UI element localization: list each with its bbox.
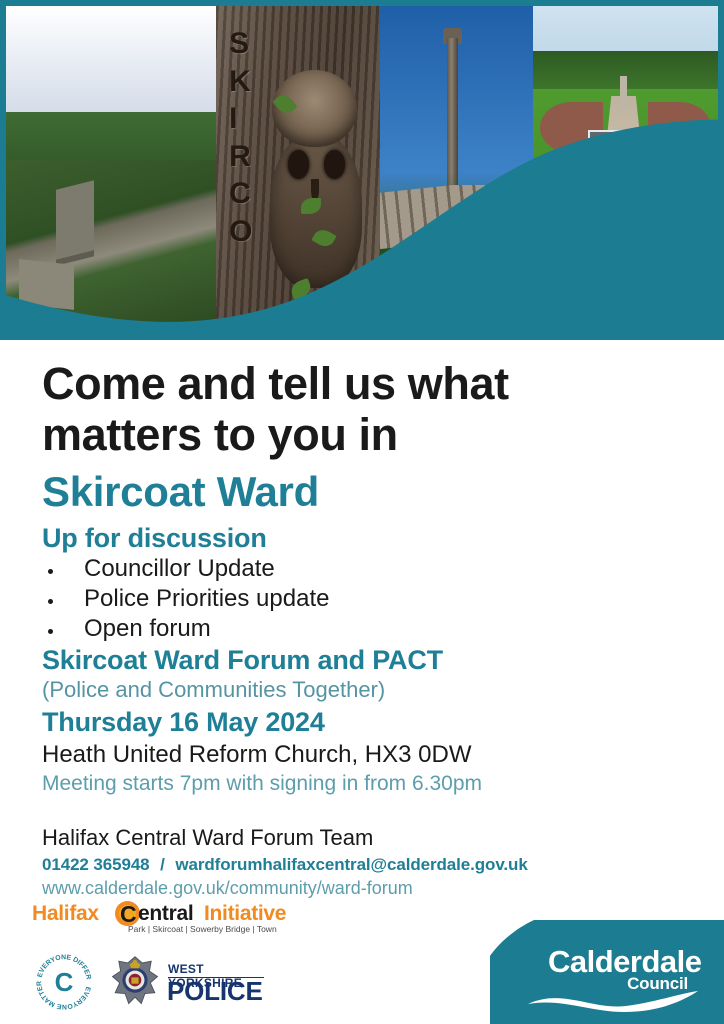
photo-skircoat-owl-carving: SKIRCO: [216, 6, 380, 326]
contact-line: 01422 365948 / wardforumhalifaxcentral@c…: [42, 855, 528, 875]
team-name: Halifax Central Ward Forum Team: [42, 825, 373, 851]
headline-line-1: Come and tell us what: [42, 358, 509, 409]
list-item: Police Priorities update: [42, 584, 329, 614]
list-item: Councillor Update: [42, 554, 329, 584]
poster: SKIRCO: [0, 0, 724, 1024]
calderdale-council-logo: Calderdale Council: [490, 920, 724, 1024]
hci-word-initiative: Initiative: [204, 902, 286, 926]
pact-expansion: (Police and Communities Together): [42, 677, 385, 703]
everyone-logo-letter: C: [55, 969, 74, 995]
event-date: Thursday 16 May 2024: [42, 707, 325, 738]
photo-gardens-and-church: [533, 6, 718, 326]
event-time: Meeting starts 7pm with signing in from …: [42, 772, 482, 796]
hci-word-entral: entral: [138, 902, 193, 926]
carved-letters: SKIRCO: [229, 25, 272, 319]
photo-valley-viaduct: [6, 6, 216, 326]
west-yorkshire-police-logo: WEST YORKSHIRE POLICE: [108, 952, 268, 1010]
hci-word-halifax: Halifax: [32, 902, 99, 926]
hci-subtitle: Park | Skircoat | Sowerby Bridge | Town: [128, 924, 277, 934]
phone-number: 01422 365948: [42, 855, 150, 874]
header-photo-collage: SKIRCO: [0, 0, 724, 340]
everyone-different-everyone-matters-logo: EVERYONE DIFFERENT EVERYONE MATTERS C: [34, 952, 94, 1012]
calderdale-name: Calderdale: [548, 946, 702, 977]
hci-letter-c: C: [120, 903, 137, 925]
page-title: Come and tell us what matters to you in: [42, 358, 602, 460]
headline-line-2: matters to you in: [42, 409, 398, 460]
police-word: POLICE: [167, 978, 263, 1004]
email-address[interactable]: wardforumhalifaxcentral@calderdale.gov.u…: [175, 855, 527, 874]
up-for-discussion-heading: Up for discussion: [42, 523, 267, 554]
contact-separator: /: [154, 855, 171, 874]
photo-wainhouse-tower-bridge: [380, 6, 533, 326]
halifax-central-initiative-logo: Halifax C entral Initiative Park | Skirc…: [32, 902, 272, 942]
list-item: Open forum: [42, 614, 329, 644]
calderdale-wave-icon: [528, 990, 698, 1012]
forum-title: Skircoat Ward Forum and PACT: [42, 645, 443, 676]
ward-name: Skircoat Ward: [42, 468, 319, 516]
website-url[interactable]: www.calderdale.gov.uk/community/ward-for…: [42, 878, 413, 899]
police-badge-icon: [108, 954, 162, 1008]
event-venue: Heath United Reform Church, HX3 0DW: [42, 741, 472, 769]
discussion-topics-list: Councillor Update Police Priorities upda…: [42, 554, 329, 644]
